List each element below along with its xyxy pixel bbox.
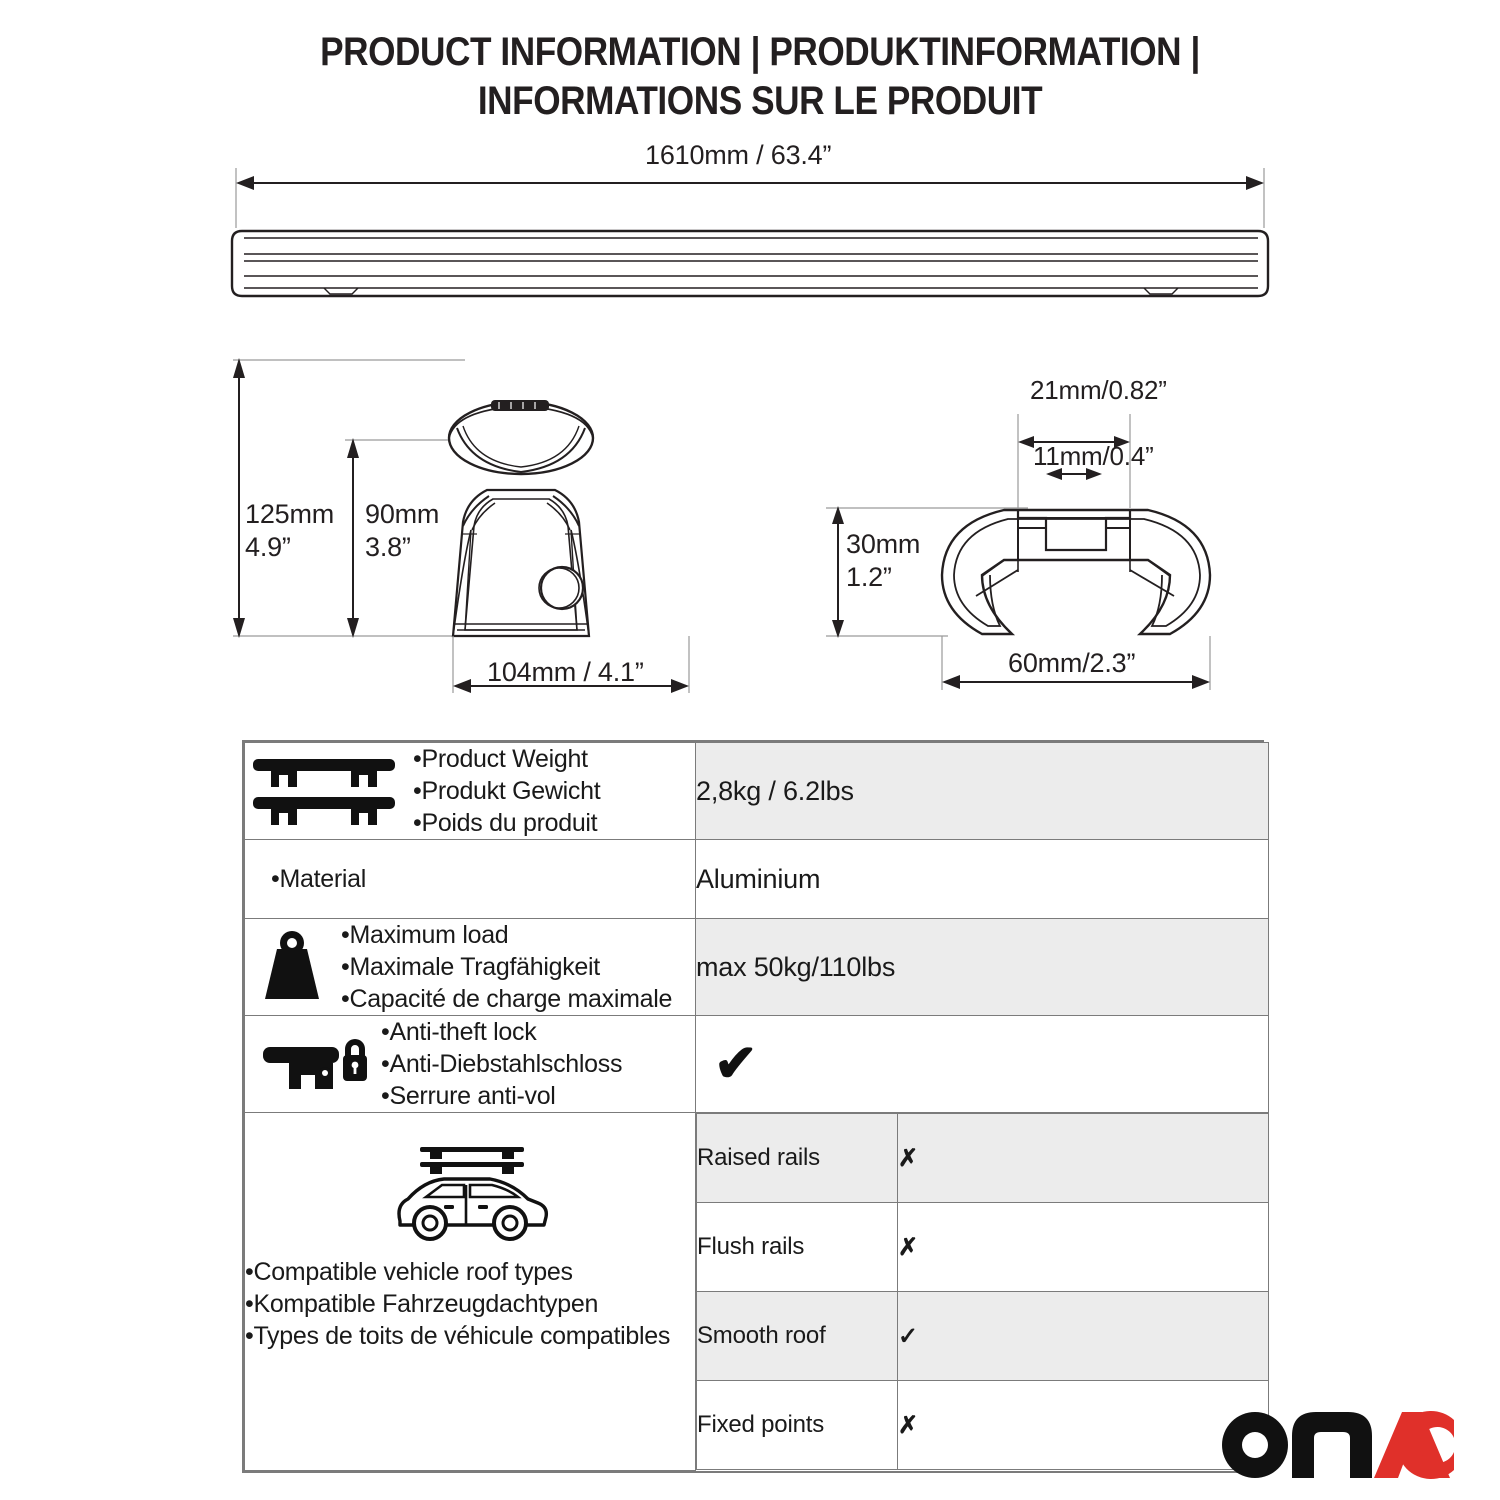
table-row: •Compatible vehicle roof types •Kompatib… (245, 1113, 1269, 1471)
roof-type-mark: ✗ (898, 1114, 1269, 1203)
tower-front-view-drawing (225, 348, 715, 708)
weight-icon (245, 929, 333, 1005)
bullet-text: •Poids du produit (413, 807, 600, 839)
table-row: •Maximum load •Maximale Tragfähigkeit •C… (245, 919, 1269, 1016)
omac-logo: OMAC (1222, 1408, 1468, 1482)
row-value-cell: 2,8kg / 6.2lbs (696, 743, 1269, 840)
bullet-text: •Types de toits de véhicule compatibles (245, 1320, 695, 1352)
roof-type-mark: ✗ (898, 1381, 1269, 1470)
two-crossbars-icon (245, 749, 405, 833)
bullet-text: •Compatible vehicle roof types (245, 1256, 695, 1288)
roof-type-mark: ✗ (898, 1203, 1269, 1292)
roof-type-row: Smooth roof ✓ (697, 1292, 1269, 1381)
roof-types-cell: Raised rails ✗ Flush rails ✗ Smooth roof… (696, 1113, 1269, 1471)
bullet-text: •Kompatible Fahrzeugdachtypen (245, 1288, 695, 1320)
row-value-cell: max 50kg/110lbs (696, 919, 1269, 1016)
roof-type-name: Flush rails (697, 1203, 898, 1292)
row-bullets: •Compatible vehicle roof types •Kompatib… (245, 1256, 695, 1352)
bar-cross-section-drawing (818, 400, 1288, 700)
spec-table: •Product Weight •Produkt Gewicht •Poids … (242, 740, 1264, 1473)
roof-type-name: Fixed points (697, 1381, 898, 1470)
roof-type-mark: ✓ (898, 1292, 1269, 1381)
bullet-text: •Anti-theft lock (381, 1016, 622, 1048)
product-information-sheet: PRODUCT INFORMATION | PRODUKTINFORMATION… (0, 0, 1500, 1500)
title-line-2: INFORMATIONS SUR LE PRODUIT (267, 77, 1253, 126)
row-label-cell: •Material (245, 840, 696, 919)
row-bullets: •Material (245, 863, 366, 895)
bullet-text: •Maximum load (341, 919, 672, 951)
bullet-text: •Product Weight (413, 743, 600, 775)
bullet-text: •Capacité de charge maximale (341, 983, 672, 1015)
row-bullets: •Product Weight •Produkt Gewicht •Poids … (413, 743, 600, 839)
table-row: •Product Weight •Produkt Gewicht •Poids … (245, 743, 1269, 840)
bullet-text: •Maximale Tragfähigkeit (341, 951, 672, 983)
table-row: •Material Aluminium (245, 840, 1269, 919)
row-bullets: •Anti-theft lock •Anti-Diebstahlschloss … (381, 1016, 622, 1112)
row-value-cell: ✔ (696, 1016, 1269, 1113)
table-row: •Anti-theft lock •Anti-Diebstahlschloss … (245, 1016, 1269, 1113)
checkmark-icon: ✔ (696, 1038, 1268, 1090)
roof-type-name: Smooth roof (697, 1292, 898, 1381)
roof-type-name: Raised rails (697, 1114, 898, 1203)
row-label-cell: •Maximum load •Maximale Tragfähigkeit •C… (245, 919, 696, 1016)
bullet-text: •Anti-Diebstahlschloss (381, 1048, 622, 1080)
row-value-cell: Aluminium (696, 840, 1269, 919)
roof-type-row: Raised rails ✗ (697, 1114, 1269, 1203)
roof-types-table: Raised rails ✗ Flush rails ✗ Smooth roof… (696, 1113, 1269, 1470)
dim-bar-length: 1610mm / 63.4” (645, 140, 831, 171)
lock-icon (245, 1029, 373, 1099)
roof-type-row: Fixed points ✗ (697, 1381, 1269, 1470)
row-label-cell: •Compatible vehicle roof types •Kompatib… (245, 1113, 696, 1471)
bullet-text: •Produkt Gewicht (413, 775, 600, 807)
crossbar-side-view-drawing (228, 168, 1272, 308)
title-line-1: PRODUCT INFORMATION | PRODUKTINFORMATION… (267, 28, 1253, 77)
bullet-text: •Material (271, 863, 366, 895)
row-label-cell: •Product Weight •Produkt Gewicht •Poids … (245, 743, 696, 840)
bullet-text: •Serrure anti-vol (381, 1080, 622, 1112)
roof-type-row: Flush rails ✗ (697, 1203, 1269, 1292)
row-bullets: •Maximum load •Maximale Tragfähigkeit •C… (341, 919, 672, 1015)
car-with-roofrack-icon (386, 1135, 554, 1245)
row-label-cell: •Anti-theft lock •Anti-Diebstahlschloss … (245, 1016, 696, 1113)
page-title: PRODUCT INFORMATION | PRODUKTINFORMATION… (200, 28, 1320, 126)
